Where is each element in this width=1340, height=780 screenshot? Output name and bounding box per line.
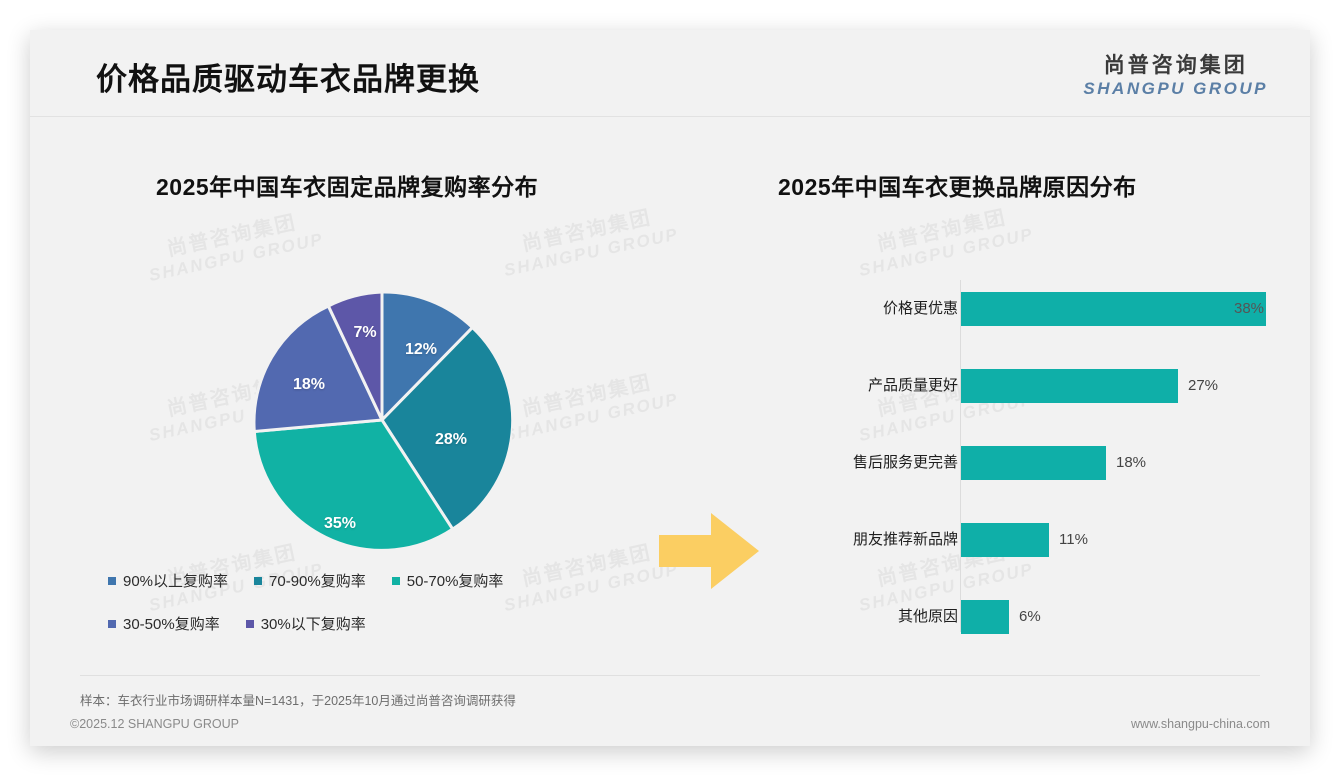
company-logo: 尚普咨询集团 SHANGPU GROUP <box>1083 53 1268 99</box>
legend-label-1: 90%以上复购率 <box>123 570 228 591</box>
source-note: 样本：车衣行业市场调研样本量N=1431，于2025年10月通过尚普咨询调研获得 <box>80 675 1260 709</box>
bar-row: 其他原因 6% <box>748 600 1268 634</box>
bar-row: 产品质量更好 27% <box>748 369 1268 403</box>
legend-item-3[interactable]: 50-70%复购率 <box>392 570 504 591</box>
bar-value-1: 38% <box>1234 292 1264 326</box>
bar-value-4: 11% <box>1059 523 1088 557</box>
slide-footer: ©2025.12 SHANGPU GROUP www.shangpu-china… <box>30 706 1310 746</box>
pie-label-4: 18% <box>293 376 325 394</box>
bar-value-3: 18% <box>1116 446 1146 480</box>
bar-category-2: 产品质量更好 <box>868 369 958 403</box>
pie-label-5: 7% <box>353 324 376 342</box>
bar-row: 朋友推荐新品牌 11% <box>748 523 1268 557</box>
bar-chart-panel: 2025年中国车衣更换品牌原因分布 价格更优惠 38% 产品质量更好 27% 售… <box>720 140 1280 660</box>
legend-swatch-icon <box>254 577 262 585</box>
slide-header: 价格品质驱动车衣品牌更换 尚普咨询集团 SHANGPU GROUP <box>30 30 1310 117</box>
bar-row: 价格更优惠 38% <box>748 292 1268 326</box>
pie-chart-title: 2025年中国车衣固定品牌复购率分布 <box>156 168 538 202</box>
bar-category-3: 售后服务更完善 <box>853 446 958 480</box>
page-title: 价格品质驱动车衣品牌更换 <box>96 54 480 99</box>
legend-label-2: 70-90%复购率 <box>269 570 366 591</box>
legend-swatch-icon <box>108 577 116 585</box>
legend-label-3: 50-70%复购率 <box>407 570 504 591</box>
footer-website[interactable]: www.shangpu-china.com <box>1131 717 1270 731</box>
bar-value-5: 6% <box>1019 600 1041 634</box>
pie-label-3: 35% <box>324 515 356 533</box>
legend-item-5[interactable]: 30%以下复购率 <box>246 613 366 634</box>
bar-fill-4 <box>961 523 1049 557</box>
legend-swatch-icon <box>392 577 400 585</box>
bar-chart-title: 2025年中国车衣更换品牌原因分布 <box>778 168 1137 202</box>
bar-category-4: 朋友推荐新品牌 <box>853 523 958 557</box>
bar-fill-3 <box>961 446 1106 480</box>
bar-fill-1 <box>961 292 1266 326</box>
legend-swatch-icon <box>246 620 254 628</box>
legend-row: 30-50%复购率 30%以下复购率 <box>108 613 668 634</box>
slide-card: 尚普咨询集团 SHANGPU GROUP 尚普咨询集团 SHANGPU GROU… <box>30 30 1310 746</box>
pie-svg <box>252 290 512 550</box>
pie-legend: 90%以上复购率 70-90%复购率 50-70%复购率 30-50%复购率 <box>108 570 668 656</box>
bar-value-2: 27% <box>1188 369 1218 403</box>
legend-swatch-icon <box>108 620 116 628</box>
bar-fill-2 <box>961 369 1178 403</box>
legend-item-4[interactable]: 30-50%复购率 <box>108 613 220 634</box>
bar-chart: 价格更优惠 38% 产品质量更好 27% 售后服务更完善 18% 朋友推荐新品牌… <box>748 280 1268 640</box>
pie-label-1: 12% <box>405 341 437 359</box>
bar-category-5: 其他原因 <box>898 600 958 634</box>
pie-chart-panel: 2025年中国车衣固定品牌复购率分布 12% 28% 35% 18% 7% <box>80 140 680 660</box>
legend-item-2[interactable]: 70-90%复购率 <box>254 570 366 591</box>
bar-category-1: 价格更优惠 <box>883 292 958 326</box>
legend-label-4: 30-50%复购率 <box>123 613 220 634</box>
legend-item-1[interactable]: 90%以上复购率 <box>108 570 228 591</box>
logo-text-en: SHANGPU GROUP <box>1083 79 1268 99</box>
pie-label-2: 28% <box>435 431 467 449</box>
pie-chart: 12% 28% 35% 18% 7% <box>252 290 512 550</box>
footer-copyright: ©2025.12 SHANGPU GROUP <box>70 717 239 731</box>
legend-label-5: 30%以下复购率 <box>261 613 366 634</box>
legend-row: 90%以上复购率 70-90%复购率 50-70%复购率 <box>108 570 668 591</box>
bar-row: 售后服务更完善 18% <box>748 446 1268 480</box>
bar-fill-5 <box>961 600 1009 634</box>
logo-text-cn: 尚普咨询集团 <box>1083 53 1268 79</box>
